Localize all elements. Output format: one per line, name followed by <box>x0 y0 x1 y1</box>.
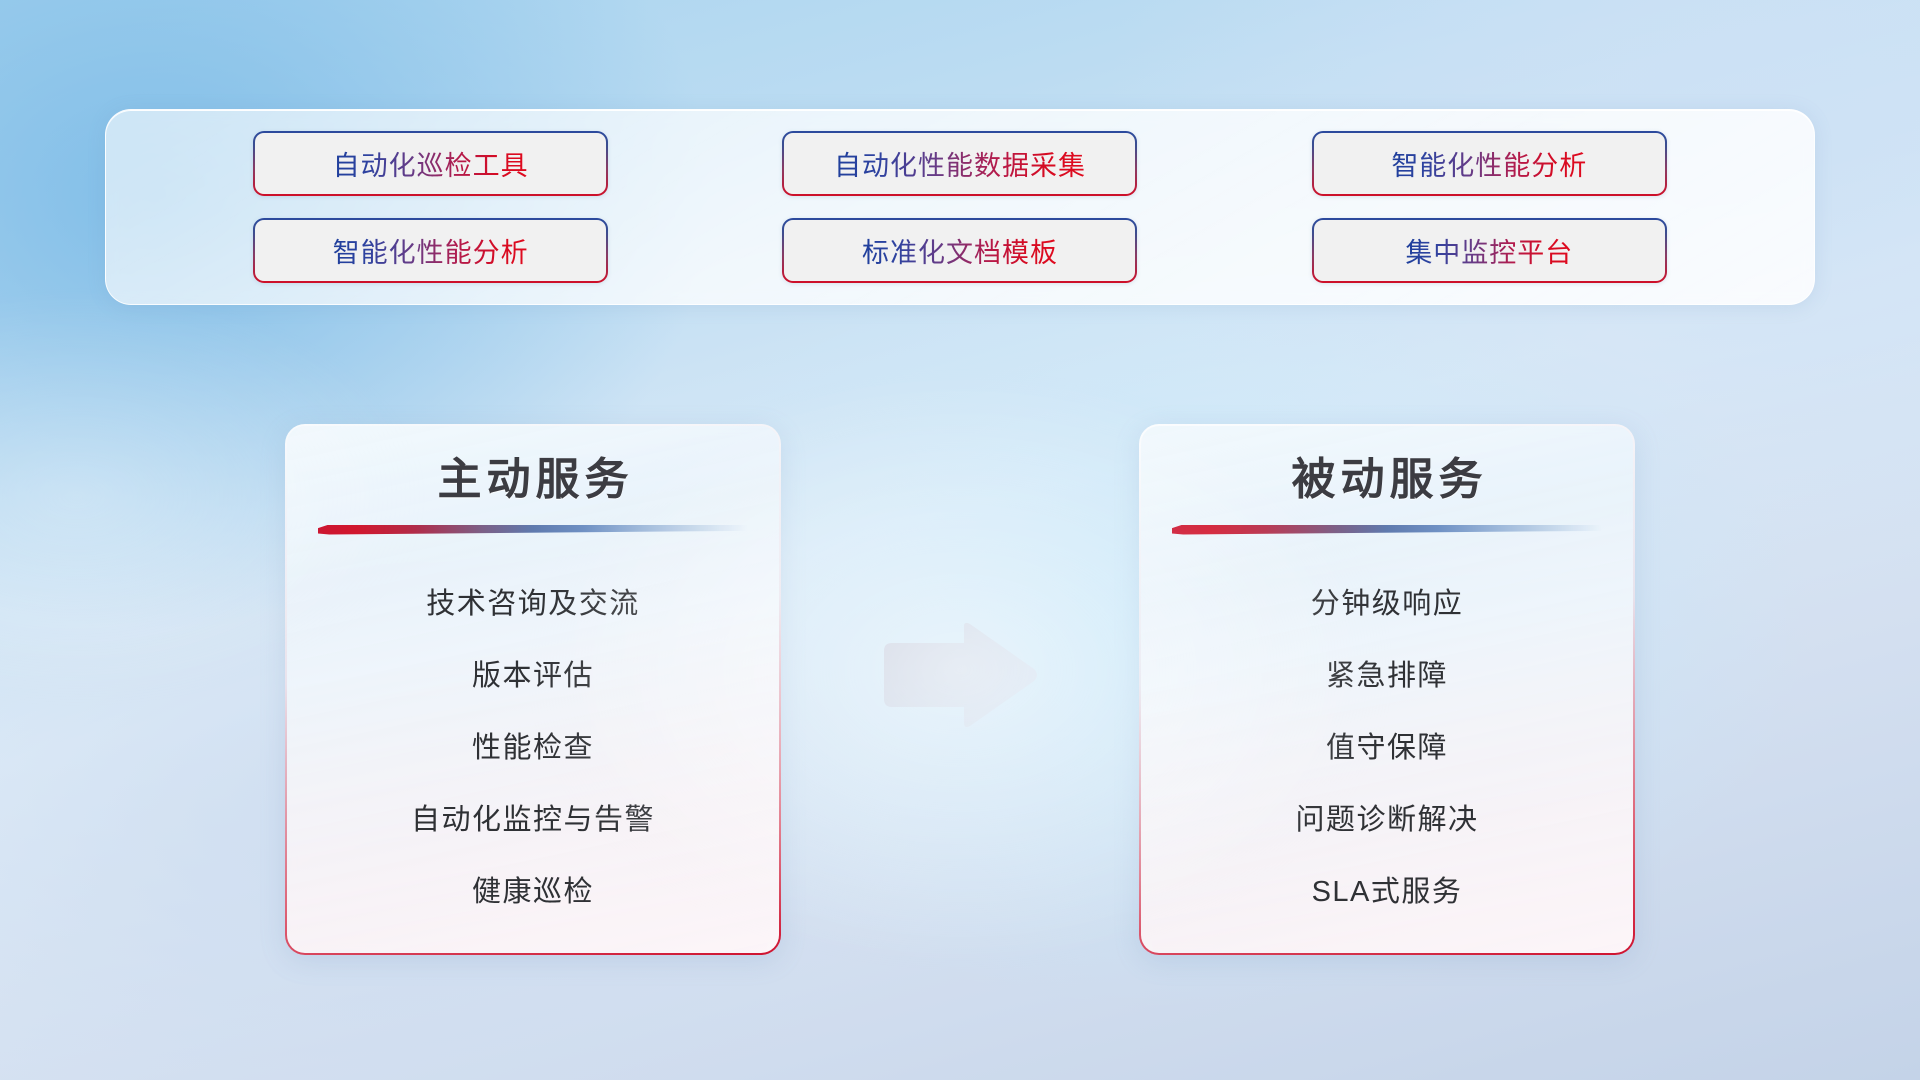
diagram-canvas: 自动化巡检工具 自动化性能数据采集 智能化性能分析 智能化性能分析 标准化文档模… <box>0 0 1920 1080</box>
service-item: 健康巡检 <box>472 856 594 928</box>
title-divider-shape <box>318 523 748 540</box>
service-item: 技术咨询及交流 <box>426 568 640 640</box>
capability-pill-inner: 智能化性能分析 <box>1314 133 1665 194</box>
capability-pill-inner: 智能化性能分析 <box>255 220 606 281</box>
capability-pill-inner: 集中监控平台 <box>1314 220 1665 281</box>
service-item: 问题诊断解决 <box>1295 784 1478 856</box>
capability-pill-inner: 自动化巡检工具 <box>255 133 606 194</box>
title-divider-shape <box>1172 523 1602 540</box>
service-item: 分钟级响应 <box>1311 568 1464 640</box>
service-card-body: 主动服务 技术咨询及交流 版本评估 性能检查 自动化监控与告警 健康巡检 <box>287 426 779 953</box>
capability-pill[interactable]: 自动化巡检工具 <box>253 131 608 196</box>
service-card-proactive[interactable]: 主动服务 技术咨询及交流 版本评估 性能检查 自动化监控与告警 健康巡检 <box>285 424 781 955</box>
service-card-body: 被动服务 分钟级响应 紧急排障 值守保障 问题诊断解决 SLA式服务 <box>1141 426 1633 953</box>
service-item: SLA式服务 <box>1312 856 1463 928</box>
capabilities-panel: 自动化巡检工具 自动化性能数据采集 智能化性能分析 智能化性能分析 标准化文档模… <box>105 109 1815 305</box>
capability-pill-label: 集中监控平台 <box>1405 231 1573 270</box>
arrow-right-icon <box>878 621 1040 729</box>
service-item-list: 分钟级响应 紧急排障 值守保障 问题诊断解决 SLA式服务 <box>1141 568 1633 933</box>
capability-pill-label: 标准化文档模板 <box>862 231 1058 270</box>
capability-pill[interactable]: 智能化性能分析 <box>1312 131 1667 196</box>
capability-pill[interactable]: 集中监控平台 <box>1312 218 1667 283</box>
service-card-reactive[interactable]: 被动服务 分钟级响应 紧急排障 值守保障 问题诊断解决 SLA式服务 <box>1139 424 1635 955</box>
service-item-list: 技术咨询及交流 版本评估 性能检查 自动化监控与告警 健康巡检 <box>287 568 779 933</box>
service-card-title: 主动服务 <box>433 452 634 507</box>
service-item: 紧急排障 <box>1326 640 1448 712</box>
capability-pill-label: 智能化性能分析 <box>1391 144 1587 183</box>
capability-pill[interactable]: 智能化性能分析 <box>253 218 608 283</box>
capability-pill-label: 自动化性能数据采集 <box>834 144 1086 183</box>
capability-pill[interactable]: 标准化文档模板 <box>782 218 1137 283</box>
capability-pill-inner: 自动化性能数据采集 <box>784 133 1135 194</box>
service-item: 自动化监控与告警 <box>411 784 655 856</box>
service-item: 版本评估 <box>472 640 594 712</box>
capability-pill[interactable]: 自动化性能数据采集 <box>782 131 1137 196</box>
title-divider <box>1172 523 1602 540</box>
service-item: 值守保障 <box>1326 712 1448 784</box>
service-item: 性能检查 <box>472 712 594 784</box>
capability-pill-inner: 标准化文档模板 <box>784 220 1135 281</box>
capability-pill-label: 智能化性能分析 <box>333 231 529 270</box>
title-divider <box>318 523 748 540</box>
capability-pill-label: 自动化巡检工具 <box>333 144 529 183</box>
service-card-title: 被动服务 <box>1287 452 1488 507</box>
